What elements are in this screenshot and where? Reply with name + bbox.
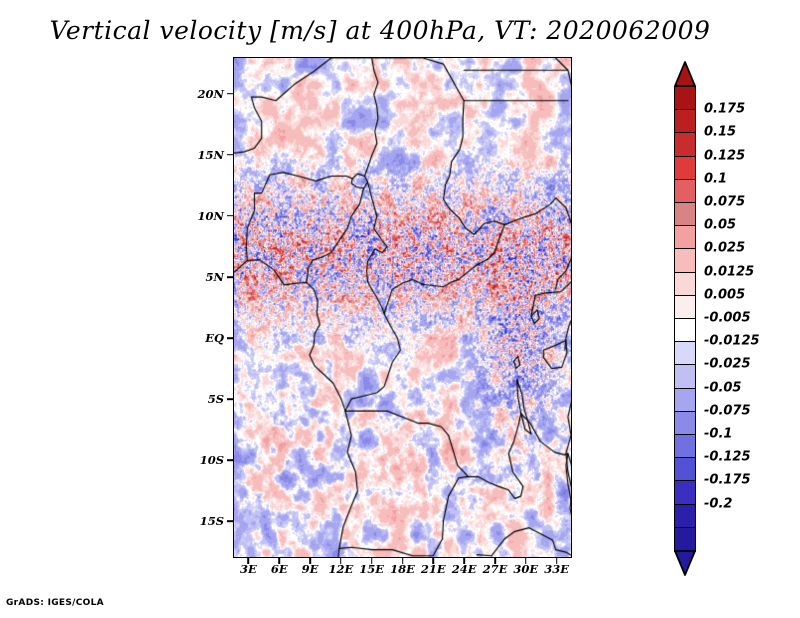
x-tick-label: 33E bbox=[544, 562, 569, 576]
colorbar-band bbox=[674, 388, 696, 413]
colorbar-band bbox=[674, 109, 696, 134]
x-tick-mark bbox=[494, 558, 496, 564]
x-tick-mark bbox=[463, 558, 465, 564]
y-tick-label: 5S bbox=[208, 392, 224, 406]
colorbar-band bbox=[674, 457, 696, 482]
colorbar-band bbox=[674, 504, 696, 529]
x-tick-label: 27E bbox=[483, 562, 508, 576]
page-title: Vertical velocity [m/s] at 400hPa, VT: 2… bbox=[0, 16, 760, 45]
colorbar-tick-label: 0.15 bbox=[704, 125, 736, 140]
colorbar-tick-label: 0.05 bbox=[704, 218, 736, 233]
x-tick-mark bbox=[340, 558, 342, 564]
x-tick-label: 15E bbox=[359, 562, 384, 576]
colorbar-tick-label: 0.075 bbox=[704, 195, 745, 210]
x-tick-label: 3E bbox=[240, 562, 257, 576]
x-tick-mark bbox=[371, 558, 373, 564]
colorbar-band bbox=[674, 341, 696, 366]
y-tick-label: 15S bbox=[200, 514, 224, 528]
y-tick-label: EQ bbox=[205, 331, 224, 345]
colorbar-band bbox=[674, 179, 696, 204]
colorbar-tick-label: 0.1 bbox=[704, 171, 727, 186]
x-tick-label: 30E bbox=[513, 562, 538, 576]
x-tick-label: 21E bbox=[421, 562, 446, 576]
y-tick-mark bbox=[227, 154, 233, 156]
y-tick-mark bbox=[227, 276, 233, 278]
y-tick-label: 20N bbox=[197, 87, 224, 101]
x-tick-label: 24E bbox=[452, 562, 477, 576]
colorbar-tick-label: -0.125 bbox=[704, 450, 751, 465]
colorbar-tick-label: -0.05 bbox=[704, 380, 741, 395]
colorbar-band bbox=[674, 527, 696, 552]
colorbar-band bbox=[674, 480, 696, 505]
x-tick-mark bbox=[525, 558, 527, 564]
x-tick-label: 6E bbox=[271, 562, 288, 576]
colorbar-tick-label: -0.175 bbox=[704, 473, 751, 488]
colorbar-band bbox=[674, 364, 696, 389]
colorbar-band bbox=[674, 318, 696, 343]
y-tick-label: 5N bbox=[205, 270, 224, 284]
colorbar-band bbox=[674, 248, 696, 273]
map-plot-area bbox=[233, 57, 572, 558]
colorbar-band bbox=[674, 156, 696, 181]
colorbar-arrow-bottom bbox=[674, 550, 696, 576]
colorbar-tick-label: -0.075 bbox=[704, 403, 751, 418]
y-tick-mark bbox=[227, 521, 233, 523]
y-tick-label: 10N bbox=[197, 209, 224, 223]
colorbar-band bbox=[674, 86, 696, 111]
colorbar-band bbox=[674, 272, 696, 297]
y-tick-label: 15N bbox=[197, 148, 224, 162]
y-tick-mark bbox=[227, 398, 233, 400]
x-tick-label: 12E bbox=[328, 562, 353, 576]
y-tick-mark bbox=[227, 215, 233, 217]
colorbar-tick-label: 0.0125 bbox=[704, 264, 754, 279]
y-tick-mark bbox=[227, 459, 233, 461]
y-tick-mark bbox=[227, 93, 233, 95]
colorbar-tick-label: -0.005 bbox=[704, 311, 751, 326]
colorbar-arrow-top bbox=[674, 61, 696, 87]
colorbar-tick-label: 0.125 bbox=[704, 148, 745, 163]
x-tick-mark bbox=[433, 558, 435, 564]
colorbar: 0.1750.150.1250.10.0750.050.0250.01250.0… bbox=[668, 57, 798, 567]
chart-root: Vertical velocity [m/s] at 400hPa, VT: 2… bbox=[0, 0, 800, 618]
y-tick-mark bbox=[227, 337, 233, 339]
colorbar-tick-label: -0.0125 bbox=[704, 334, 760, 349]
colorbar-band bbox=[674, 434, 696, 459]
colorbar-tick-label: 0.175 bbox=[704, 102, 745, 117]
colorbar-tick-label: -0.2 bbox=[704, 496, 732, 511]
y-tick-label: 10S bbox=[200, 453, 224, 467]
x-tick-mark bbox=[556, 558, 558, 564]
colorbar-tick-label: -0.1 bbox=[704, 427, 732, 442]
x-tick-mark bbox=[309, 558, 311, 564]
colorbar-tick-label: 0.005 bbox=[704, 287, 745, 302]
x-tick-mark bbox=[402, 558, 404, 564]
x-tick-mark bbox=[278, 558, 280, 564]
colorbar-band bbox=[674, 132, 696, 157]
colorbar-band bbox=[674, 295, 696, 320]
x-tick-label: 18E bbox=[390, 562, 415, 576]
vertical-velocity-heatmap bbox=[234, 58, 571, 557]
x-tick-mark bbox=[248, 558, 250, 564]
colorbar-band bbox=[674, 225, 696, 250]
colorbar-band bbox=[674, 202, 696, 227]
colorbar-band bbox=[674, 411, 696, 436]
x-tick-label: 9E bbox=[302, 562, 319, 576]
colorbar-tick-label: -0.025 bbox=[704, 357, 751, 372]
footer-credit: GrADS: IGES/COLA bbox=[6, 598, 104, 608]
colorbar-tick-label: 0.025 bbox=[704, 241, 745, 256]
